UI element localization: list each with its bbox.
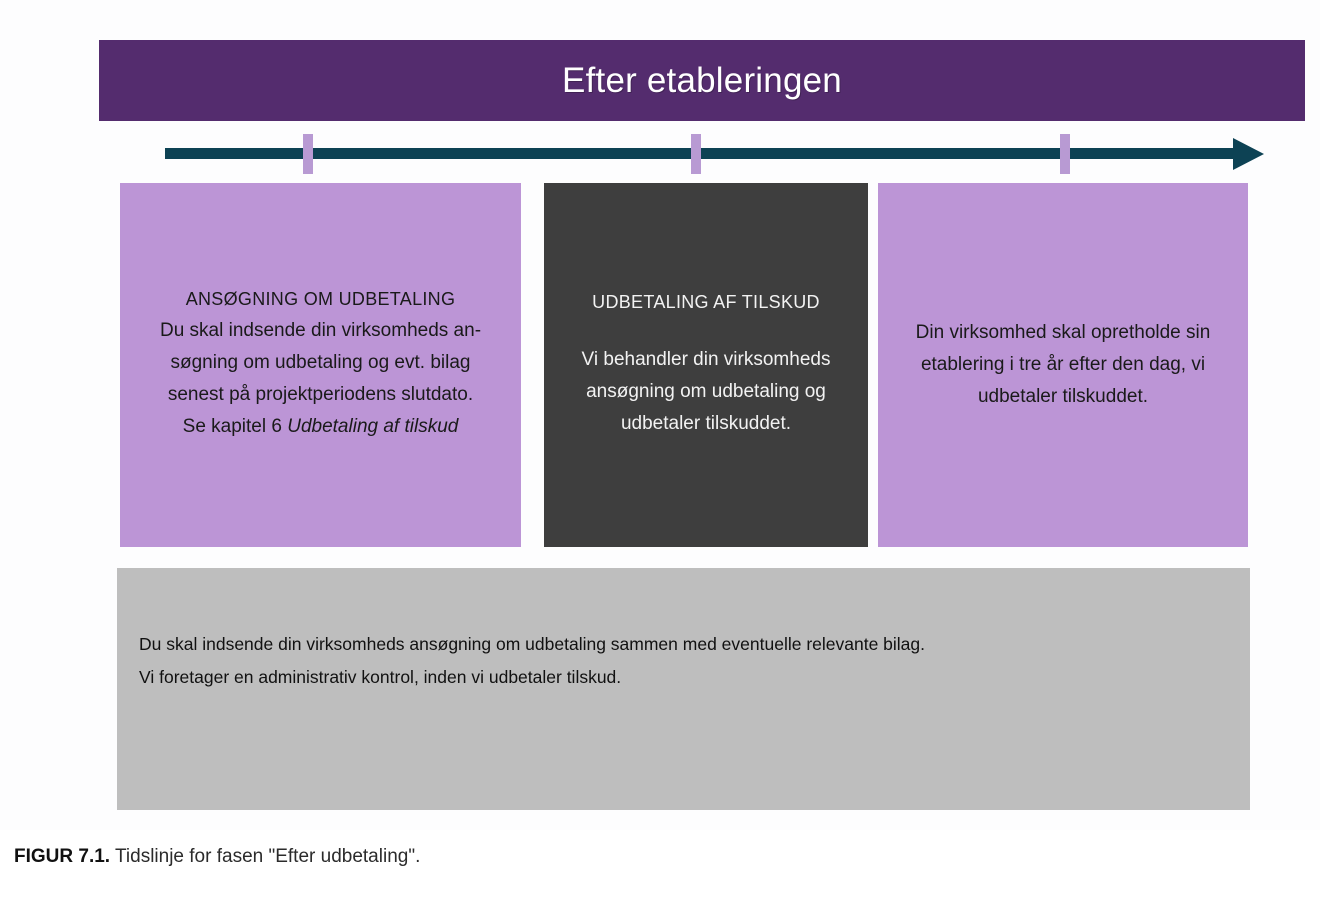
step-1-body-line-3: senest på projektperiodens slutdato.: [160, 379, 481, 411]
step-3-body-line-2: etablering i tre år efter den dag, vi: [916, 349, 1211, 381]
summary-panel: Du skal indsende din virksomheds ansøgni…: [117, 568, 1250, 810]
timeline-line: [165, 148, 1243, 159]
phase-header-title: Efter etableringen: [562, 63, 842, 98]
step-1-body-line-2: søgning om udbetaling og evt. bilag: [160, 347, 481, 379]
timeline-tick-3: [1060, 134, 1070, 174]
step-1-chapter-reference: Se kapitel 6: [183, 416, 288, 437]
step-2-body-line-1: Vi behandler din virksomheds: [582, 344, 831, 376]
figure-caption-text: Tidslinje for fasen "Efter udbetaling".: [110, 846, 420, 867]
step-1-chapter-title: Udbetaling af tilskud: [287, 416, 458, 437]
step-2-heading: UDBETALING AF TILSKUD: [592, 290, 820, 314]
step-3-body: Din virksomhed skal opretholde sin etabl…: [916, 317, 1211, 413]
step-1-body-line-1: Du skal indsende din virksomheds an-: [160, 315, 481, 347]
step-2-body-line-2: ansøgning om udbetaling og: [582, 376, 831, 408]
timeline-tick-2: [691, 134, 701, 174]
step-2-body-line-3: udbetaler tilskuddet.: [582, 408, 831, 440]
step-box-ansogning-om-udbetaling: ANSØGNING OM UDBETALING Du skal indsende…: [120, 183, 521, 547]
figure-caption: FIGUR 7.1. Tidslinje for fasen "Efter ud…: [14, 845, 420, 870]
timeline-arrowhead-icon: [1233, 138, 1264, 170]
step-3-body-line-1: Din virksomhed skal opretholde sin: [916, 317, 1211, 349]
step-box-udbetaling-af-tilskud: UDBETALING AF TILSKUD Vi behandler din v…: [544, 183, 868, 547]
phase-header-banner: Efter etableringen: [99, 40, 1305, 121]
step-1-body-line-4: Se kapitel 6 Udbetaling af tilskud: [160, 411, 481, 443]
figure-caption-label: FIGUR 7.1.: [14, 846, 110, 867]
step-2-body: Vi behandler din virksomheds ansøgning o…: [582, 344, 831, 440]
summary-line-2: Vi foretager en administrativ kontrol, i…: [139, 663, 1226, 691]
step-3-body-line-3: udbetaler tilskuddet.: [916, 381, 1211, 413]
timeline-axis: [160, 126, 1270, 182]
timeline-tick-1: [303, 134, 313, 174]
step-1-heading: ANSØGNING OM UDBETALING: [186, 287, 456, 311]
summary-line-1: Du skal indsende din virksomheds ansøgni…: [139, 630, 1226, 658]
step-1-body: Du skal indsende din virksomheds an- søg…: [160, 315, 481, 443]
step-box-oprethold-etablering: Din virksomhed skal opretholde sin etabl…: [878, 183, 1248, 547]
figure-container: Efter etableringen ANSØGNING OM UDBETALI…: [0, 0, 1320, 830]
